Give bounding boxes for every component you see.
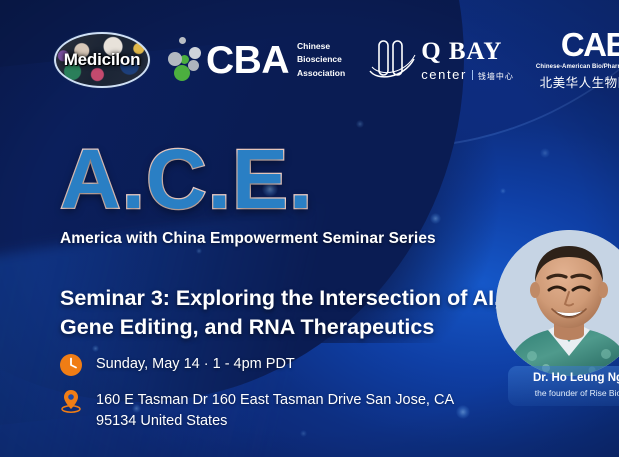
map-pin-icon: [58, 388, 84, 414]
speaker-name: Dr. Ho Leung Ng: [518, 372, 619, 386]
qbay-chinese-name: 钱墙中心: [478, 71, 514, 82]
qbay-divider: [472, 70, 473, 80]
cba-subtitle-line3: Association: [297, 67, 345, 80]
cba-subtitle: Chinese Bioscience Association: [297, 40, 345, 80]
seminar-title: Seminar 3: Exploring the Intersection of…: [60, 284, 510, 342]
speaker-portrait: [496, 230, 619, 376]
medicilon-wordmark: Medicilon: [64, 50, 141, 70]
cabs-wordmark: CABS: [536, 29, 619, 60]
cba-subtitle-line2: Bioscience: [297, 53, 345, 66]
cabs-english-name: Chinese-American Bio/Pharmaceutical Soci…: [536, 64, 619, 70]
speaker-caption: Dr. Ho Leung Ng the founder of Rise Bio: [508, 366, 619, 406]
qbay-subtitle: center: [421, 67, 467, 82]
speaker-role: the founder of Rise Bio: [518, 388, 619, 398]
sponsor-logo-bar: Medicilon CBA Chinese Bioscience Associa…: [0, 24, 619, 96]
event-details: Sunday, May 14 · 1 - 4pm PDT 160 E Tasma…: [58, 354, 478, 442]
medicilon-logo[interactable]: Medicilon: [54, 32, 150, 88]
event-poster: Medicilon CBA Chinese Bioscience Associa…: [0, 0, 619, 457]
qbay-subtitle-row: center 钱墙中心: [421, 67, 514, 82]
cabs-chinese-name: 北美华人生物医药协会: [536, 72, 619, 91]
cba-logo[interactable]: CBA Chinese Bioscience Association: [166, 36, 345, 84]
cba-subtitle-line1: Chinese: [297, 40, 345, 53]
event-location-text: 160 E Tasman Dr 160 East Tasman Drive Sa…: [96, 390, 478, 432]
event-datetime-text: Sunday, May 14 · 1 - 4pm PDT: [96, 354, 295, 375]
event-datetime-row: Sunday, May 14 · 1 - 4pm PDT: [58, 354, 478, 380]
ace-expansion: America with China Empowerment Seminar S…: [60, 230, 436, 248]
qbay-wordmark: Q BAY: [421, 39, 514, 64]
event-location-row: 160 E Tasman Dr 160 East Tasman Drive Sa…: [58, 390, 478, 432]
cba-molecule-dots-icon: [166, 36, 208, 84]
clock-icon: [58, 352, 84, 378]
qbay-center-logo[interactable]: Q BAY center 钱墙中心: [369, 37, 514, 83]
cba-wordmark: CBA: [206, 41, 289, 80]
ace-headline-block: A.C.E. America with China Empowerment Se…: [60, 140, 436, 248]
qbay-text-block: Q BAY center 钱墙中心: [421, 39, 514, 82]
qbay-swoosh-icon: [369, 37, 417, 83]
ace-acronym: A.C.E.: [60, 140, 436, 220]
cabs-logo[interactable]: CABS Chinese-American Bio/Pharmaceutical…: [536, 29, 619, 90]
